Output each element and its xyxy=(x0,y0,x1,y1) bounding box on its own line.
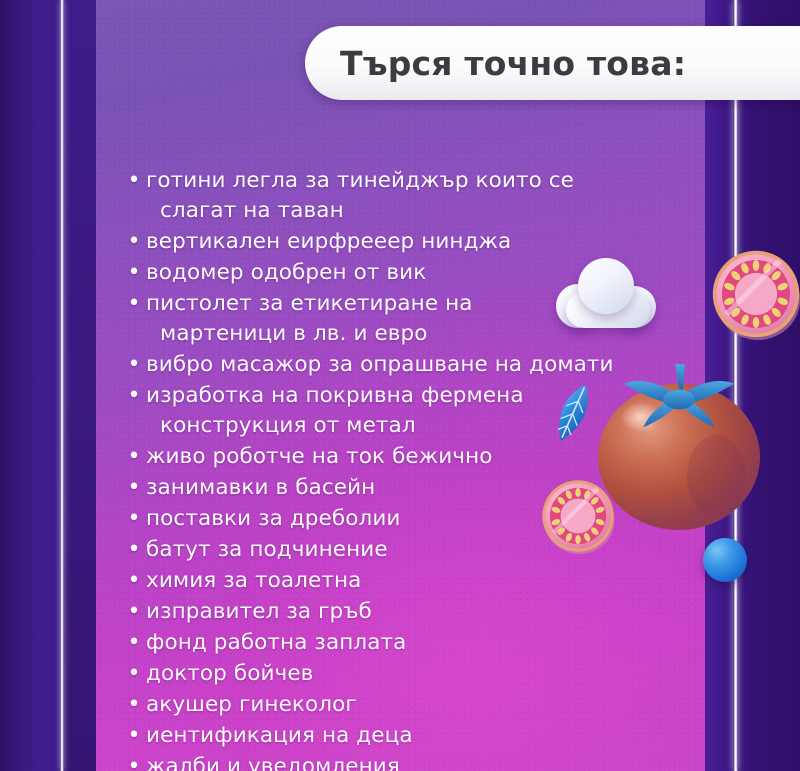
sphere-icon xyxy=(703,538,747,582)
bullet-icon: • xyxy=(122,535,146,565)
bullet-icon: • xyxy=(122,473,146,503)
list-item-label: химия за тоалетна xyxy=(146,566,361,596)
bullet-icon: • xyxy=(122,442,146,472)
list-item-label: занимавки в басейн xyxy=(146,473,375,503)
bullet-icon: • xyxy=(122,227,146,257)
bullet-icon: • xyxy=(122,258,146,288)
page-title: Търся точно това: xyxy=(340,44,686,83)
bullet-icon: • xyxy=(122,350,146,380)
bullet-icon: • xyxy=(122,597,146,627)
list-item: •занимавки в басейн xyxy=(122,473,682,503)
list-item: •батут за подчинение xyxy=(122,535,682,565)
bullet-icon: • xyxy=(122,659,146,689)
list-item-label: поставки за дреболии xyxy=(146,504,400,534)
list-item-label: изправител за гръб xyxy=(146,597,372,627)
list-item-label: доктор бойчев xyxy=(146,659,313,689)
list-item: •иентификация на деца xyxy=(122,721,682,751)
list-item-label: фонд работна заплата xyxy=(146,628,406,658)
list-item: •поставки за дреболии xyxy=(122,504,682,534)
bullet-icon: • xyxy=(122,721,146,751)
list-item-label: жалби и уведомления xyxy=(146,752,400,771)
bullet-icon: • xyxy=(122,381,146,411)
list-item: •изправител за гръб xyxy=(122,597,682,627)
search-wish-list: •готини легла за тинейджър които се слаг… xyxy=(122,166,682,771)
list-item: •вертикален еирфрееер нинджа xyxy=(122,227,682,257)
list-item-label: акушер гинеколог xyxy=(146,690,357,720)
list-item: •фонд работна заплата xyxy=(122,628,682,658)
list-item-label: живо роботче на ток бежично xyxy=(146,442,493,472)
list-item: •химия за тоалетна xyxy=(122,566,682,596)
list-item: •жалби и уведомления xyxy=(122,752,682,771)
bullet-icon: • xyxy=(122,752,146,771)
list-item: •водомер одобрен от вик xyxy=(122,258,682,288)
list-item-label: иентификация на деца xyxy=(146,721,413,751)
left-dark-band xyxy=(0,0,62,771)
list-item: •изработка на покривна фермена конструкц… xyxy=(122,381,682,441)
list-item-label: вибро масажор за опрашване на домати xyxy=(146,350,614,380)
list-item-label: водомер одобрен от вик xyxy=(146,258,426,288)
list-item: •живо роботче на ток бежично xyxy=(122,442,682,472)
list-item: •пистолет за етикетиране на мартеници в … xyxy=(122,289,682,349)
list-item: •вибро масажор за опрашване на домати xyxy=(122,350,682,380)
bullet-icon: • xyxy=(122,289,146,319)
bullet-icon: • xyxy=(122,504,146,534)
bullet-icon: • xyxy=(122,566,146,596)
slide-canvas: Търся точно това: •готини легла за тиней… xyxy=(0,0,800,771)
list-item: •акушер гинеколог xyxy=(122,690,682,720)
bullet-icon: • xyxy=(122,166,146,196)
list-item-label: вертикален еирфрееер нинджа xyxy=(146,227,511,257)
list-item-label: пистолет за етикетиране на мартеници в л… xyxy=(146,289,578,349)
list-item-label: готини легла за тинейджър които се слага… xyxy=(146,166,578,226)
left-gap-band xyxy=(63,0,97,771)
list-item: •готини легла за тинейджър които се слаг… xyxy=(122,166,682,226)
tomato-slice-large-icon xyxy=(710,248,800,340)
list-item-label: батут за подчинение xyxy=(146,535,388,565)
list-item-label: изработка на покривна фермена конструкци… xyxy=(146,381,578,441)
bullet-icon: • xyxy=(122,690,146,720)
title-pill: Търся точно това: xyxy=(305,26,800,100)
bullet-icon: • xyxy=(122,628,146,658)
left-divider-line xyxy=(60,0,64,771)
list-item: •доктор бойчев xyxy=(122,659,682,689)
